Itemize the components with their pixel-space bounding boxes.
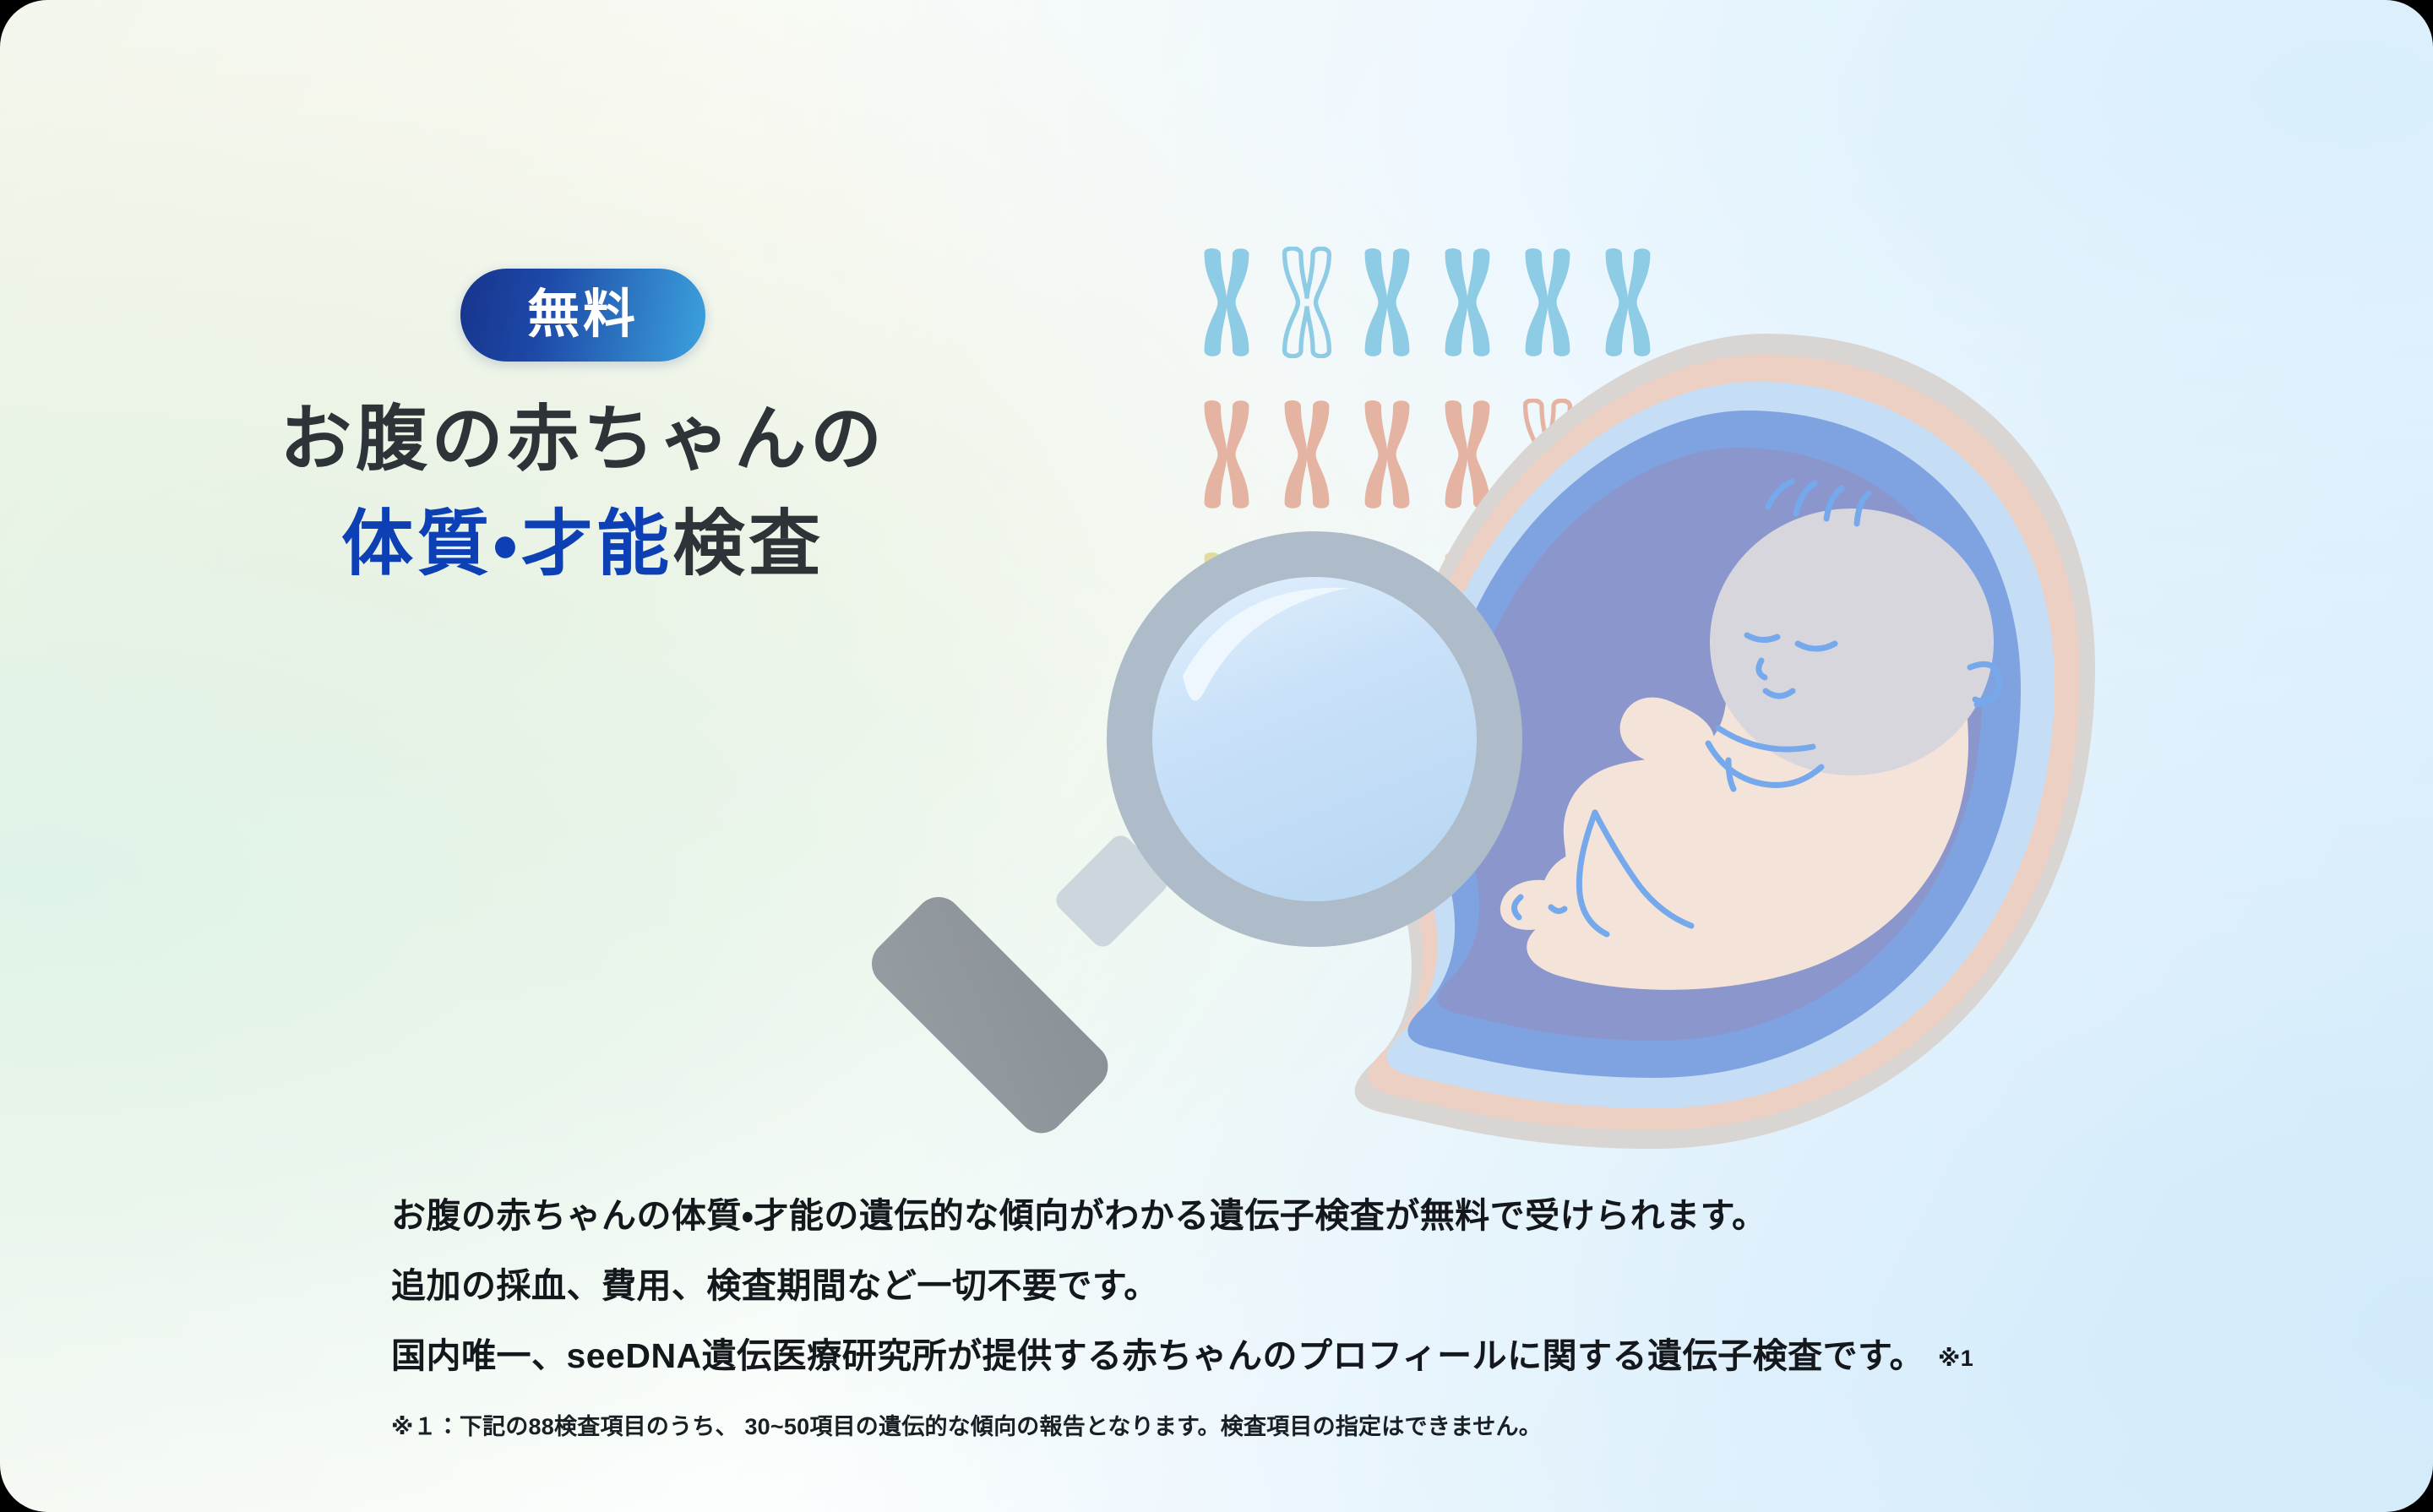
womb-halo-pink	[1369, 355, 2080, 1130]
baby-foot	[1500, 880, 1566, 930]
body-line-2: 追加の採血、費用、検査期間など一切不要です。	[391, 1257, 2140, 1308]
baby-lineart	[1514, 481, 1999, 934]
search-icon	[862, 555, 1499, 1143]
magnifier-handle	[862, 887, 1118, 1143]
baby-body	[1527, 541, 1968, 990]
magnifier-glare	[1183, 588, 1348, 701]
headline-line-2: 体質・才能検査	[0, 507, 1166, 583]
body-copy: お腹の赤ちゃんの体質・才能の遺伝的な傾向がわかる遺伝子検査が無料で受けられます。…	[391, 1187, 2140, 1397]
chromosome-row-3	[1205, 552, 1651, 661]
womb-halo-gray	[1355, 334, 2095, 1149]
body-line-3-text: 国内唯一、seeDNA遺伝医療研究所が提供する赤ちゃんのプロフィールに関する遺伝…	[391, 1336, 1924, 1375]
magnifier-ring	[1130, 555, 1499, 923]
baby-arm	[1620, 698, 1714, 765]
magnifier-collar	[1052, 831, 1173, 952]
magnifier-lens	[1152, 577, 1477, 901]
hero-copy: 無料 お腹の赤ちゃんの 体質・才能検査	[0, 269, 1166, 583]
hero-card: 無料 お腹の赤ちゃんの 体質・才能検査 お腹の赤ちゃんの体質・才能の遺伝的な傾向…	[0, 0, 2433, 1512]
baby-head	[1710, 509, 1994, 775]
baby-leg-upper	[1541, 851, 1649, 939]
headline-rest: 検査	[672, 504, 824, 585]
headline-accent: 体質・才能	[341, 504, 672, 585]
womb-mid-blue	[1407, 411, 2021, 1078]
chromosome-row-2	[1205, 400, 1651, 509]
body-line-3: 国内唯一、seeDNA遺伝医療研究所が提供する赤ちゃんのプロフィールに関する遺伝…	[391, 1327, 2140, 1378]
chromosome-row-1	[1205, 248, 1651, 356]
womb-illustration	[1355, 334, 2095, 1149]
footnote-text: ※１：下記の88検査項目のうち、 30~50項目の遺伝的な傾向の報告となります。…	[391, 1408, 1542, 1441]
free-badge: 無料	[460, 269, 705, 362]
womb-outer-blue	[1386, 382, 2055, 1108]
headline-line-1: お腹の赤ちゃんの	[0, 402, 1166, 478]
womb-inner-blue	[1438, 448, 1982, 1041]
footnote-marker: ※1	[1938, 1346, 1973, 1371]
chromosome-grid	[1205, 248, 1651, 661]
body-line-1: お腹の赤ちゃんの体質・才能の遺伝的な傾向がわかる遺伝子検査が無料で受けられます。	[391, 1187, 2140, 1237]
